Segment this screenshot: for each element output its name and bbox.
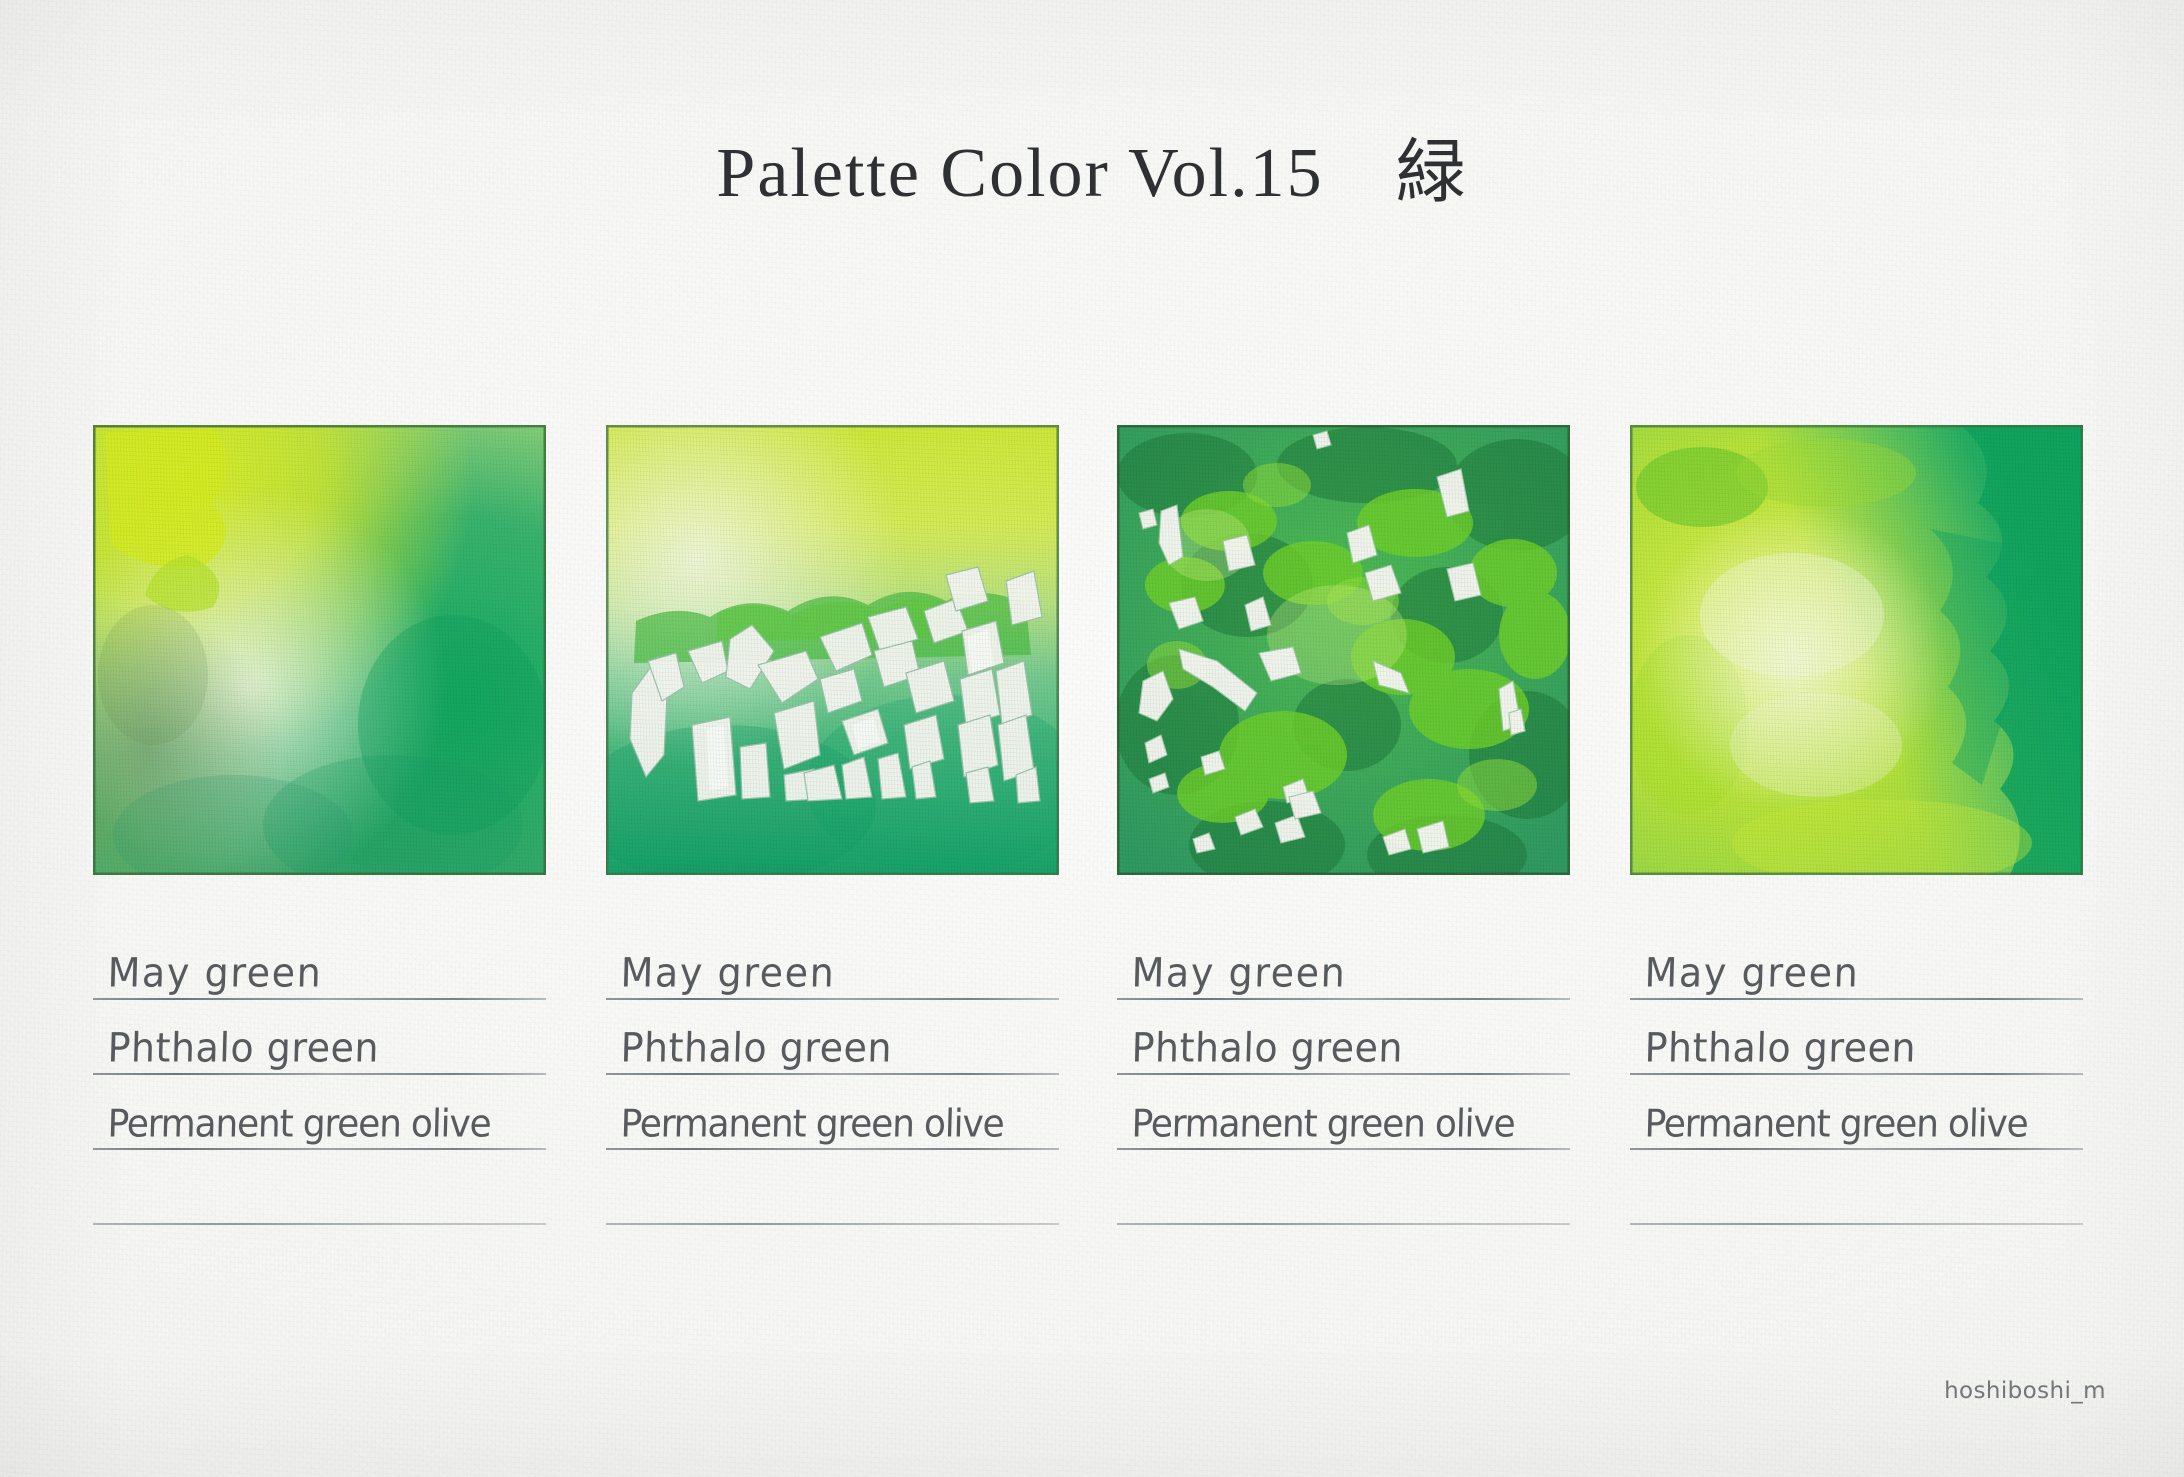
swatch-masked-crystals <box>606 425 1059 875</box>
swatch-mottled-speckles <box>1117 425 1570 875</box>
pigment-name: Phthalo green <box>1644 1024 1917 1071</box>
label-row-empty <box>1630 1150 2083 1225</box>
artist-signature: hoshiboshi_m <box>1944 1378 2106 1404</box>
swatch-1-labels: May green Phthalo green Permanent green … <box>93 925 546 1225</box>
palette-column-2: May green Phthalo green Permanent green … <box>606 425 1059 875</box>
page-title: Palette Color Vol.15 緑 <box>0 116 2184 217</box>
ruled-line <box>1630 1223 2083 1225</box>
swatch-4-labels: May green Phthalo green Permanent green … <box>1630 925 2083 1225</box>
pigment-name: Permanent green olive <box>1131 1103 1515 1146</box>
label-row: Phthalo green <box>1117 1000 1570 1075</box>
label-row: May green <box>606 925 1059 1000</box>
pigment-name: Phthalo green <box>107 1024 380 1071</box>
palette-column-3: May green Phthalo green Permanent green … <box>1117 425 1570 875</box>
pigment-name: Phthalo green <box>620 1024 893 1071</box>
swatch-1 <box>93 425 546 875</box>
ruled-line <box>93 1223 546 1225</box>
ruled-line <box>606 1223 1059 1225</box>
ruled-line <box>1117 1223 1570 1225</box>
swatch-2-labels: May green Phthalo green Permanent green … <box>606 925 1059 1225</box>
swatch-2 <box>606 425 1059 875</box>
pigment-name: Phthalo green <box>1131 1024 1404 1071</box>
swatch-bright-yellowgreen <box>1630 425 2083 875</box>
swatch-3 <box>1117 425 1570 875</box>
pigment-name: May green <box>620 949 836 996</box>
palette-column-4: May green Phthalo green Permanent green … <box>1630 425 2083 875</box>
swatch-gradient-yellow-to-emerald <box>93 425 546 875</box>
label-row: May green <box>1117 925 1570 1000</box>
label-row: Phthalo green <box>93 1000 546 1075</box>
label-row-empty <box>93 1150 546 1225</box>
label-row: Phthalo green <box>606 1000 1059 1075</box>
label-row: Permanent green olive <box>606 1075 1059 1150</box>
label-row: Permanent green olive <box>93 1075 546 1150</box>
swatch-3-labels: May green Phthalo green Permanent green … <box>1117 925 1570 1225</box>
label-row-empty <box>1117 1150 1570 1225</box>
pigment-name: May green <box>1644 949 1860 996</box>
palette-page: Palette Color Vol.15 緑 <box>0 0 2184 1477</box>
pigment-name: Permanent green olive <box>1644 1103 2028 1146</box>
pigment-name: May green <box>107 949 323 996</box>
swatch-4 <box>1630 425 2083 875</box>
label-row: Phthalo green <box>1630 1000 2083 1075</box>
label-row: Permanent green olive <box>1117 1075 1570 1150</box>
label-row-empty <box>606 1150 1059 1225</box>
label-row: Permanent green olive <box>1630 1075 2083 1150</box>
label-row: May green <box>93 925 546 1000</box>
label-row: May green <box>1630 925 2083 1000</box>
pigment-name: Permanent green olive <box>620 1103 1004 1146</box>
pigment-name: Permanent green olive <box>107 1103 491 1146</box>
pigment-name: May green <box>1131 949 1347 996</box>
palette-column-1: May green Phthalo green Permanent green … <box>93 425 546 875</box>
